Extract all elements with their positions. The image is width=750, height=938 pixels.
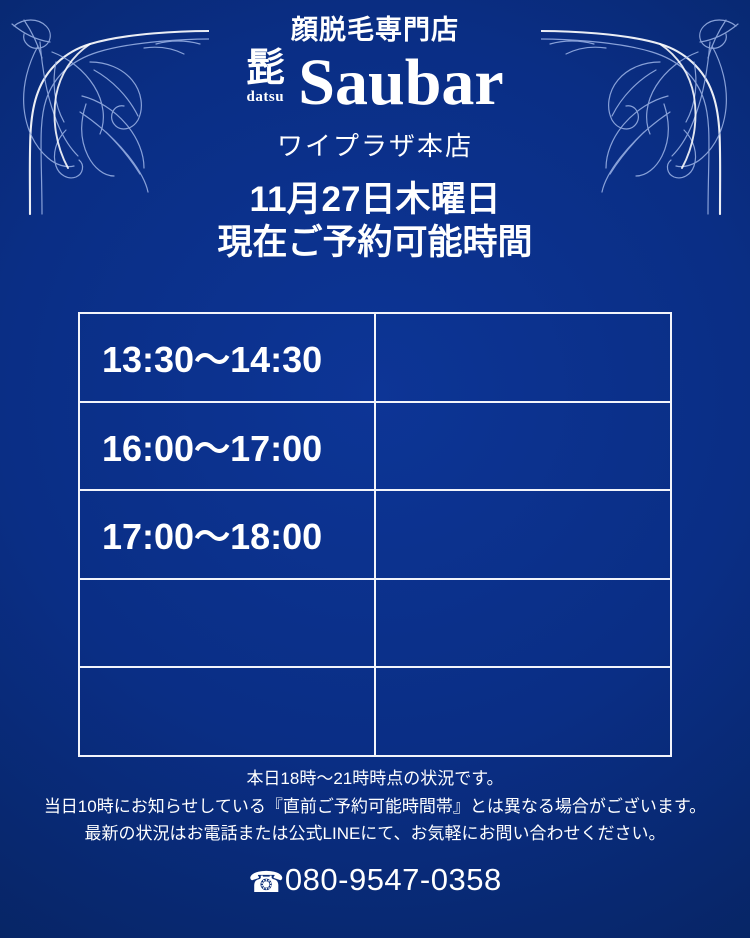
table-row: 13:30〜14:30 — [79, 313, 671, 402]
contact-phone[interactable]: ☎080-9547-0358 — [0, 862, 750, 899]
table-row — [79, 667, 671, 756]
slot-time-label: 17:00〜18:00 — [102, 516, 322, 557]
slot-time-cell: 16:00〜17:00 — [79, 402, 375, 491]
availability-poster: 顔脱毛専門店 髭 datsu Saubar ワイプラザ本店 11月27日木曜日 … — [0, 0, 750, 938]
slot-note-cell — [375, 313, 671, 402]
phone-number-label[interactable]: 080-9547-0358 — [285, 862, 502, 897]
availability-heading: 現在ご予約可能時間 — [0, 222, 750, 265]
slot-note-cell — [375, 579, 671, 668]
availability-table: 13:30〜14:30 16:00〜17:00 17:00〜18:00 — [78, 312, 672, 757]
note-line-1: 本日18時〜21時時点の状況です。 — [0, 765, 750, 793]
brand-wordmark: Saubar — [298, 53, 503, 114]
date-label: 11月27日木曜日 — [0, 179, 750, 222]
poster-header: 顔脱毛専門店 髭 datsu Saubar ワイプラザ本店 11月27日木曜日 … — [0, 0, 750, 265]
brand-lockup: 髭 datsu Saubar — [0, 50, 750, 114]
slot-note-cell — [375, 667, 671, 756]
note-line-3: 最新の状況はお電話または公式LINEにて、お気軽にお問い合わせください。 — [0, 820, 750, 848]
slot-time-label: 16:00〜17:00 — [102, 428, 322, 469]
brand-kanji-glyph: 髭 — [246, 50, 284, 87]
table-row — [79, 579, 671, 668]
slot-time-cell: 13:30〜14:30 — [79, 313, 375, 402]
brand-kanji-mark: 髭 datsu — [246, 50, 284, 114]
slot-time-cell — [79, 667, 375, 756]
table-row: 16:00〜17:00 — [79, 402, 671, 491]
brand-romaji-label: datsu — [247, 90, 285, 105]
slot-time-cell: 17:00〜18:00 — [79, 490, 375, 579]
slot-note-cell — [375, 402, 671, 491]
slot-time-label: 13:30〜14:30 — [102, 339, 322, 380]
table-row: 17:00〜18:00 — [79, 490, 671, 579]
shop-category-label: 顔脱毛専門店 — [0, 16, 750, 46]
note-line-2: 当日10時にお知らせしている『直前ご予約可能時間帯』とは異なる場合がございます。 — [0, 793, 750, 821]
slot-time-cell — [79, 579, 375, 668]
telephone-icon: ☎ — [248, 865, 285, 899]
branch-name-label: ワイプラザ本店 — [0, 126, 750, 163]
slot-note-cell — [375, 490, 671, 579]
footer-notes: 本日18時〜21時時点の状況です。 当日10時にお知らせしている『直前ご予約可能… — [0, 765, 750, 848]
